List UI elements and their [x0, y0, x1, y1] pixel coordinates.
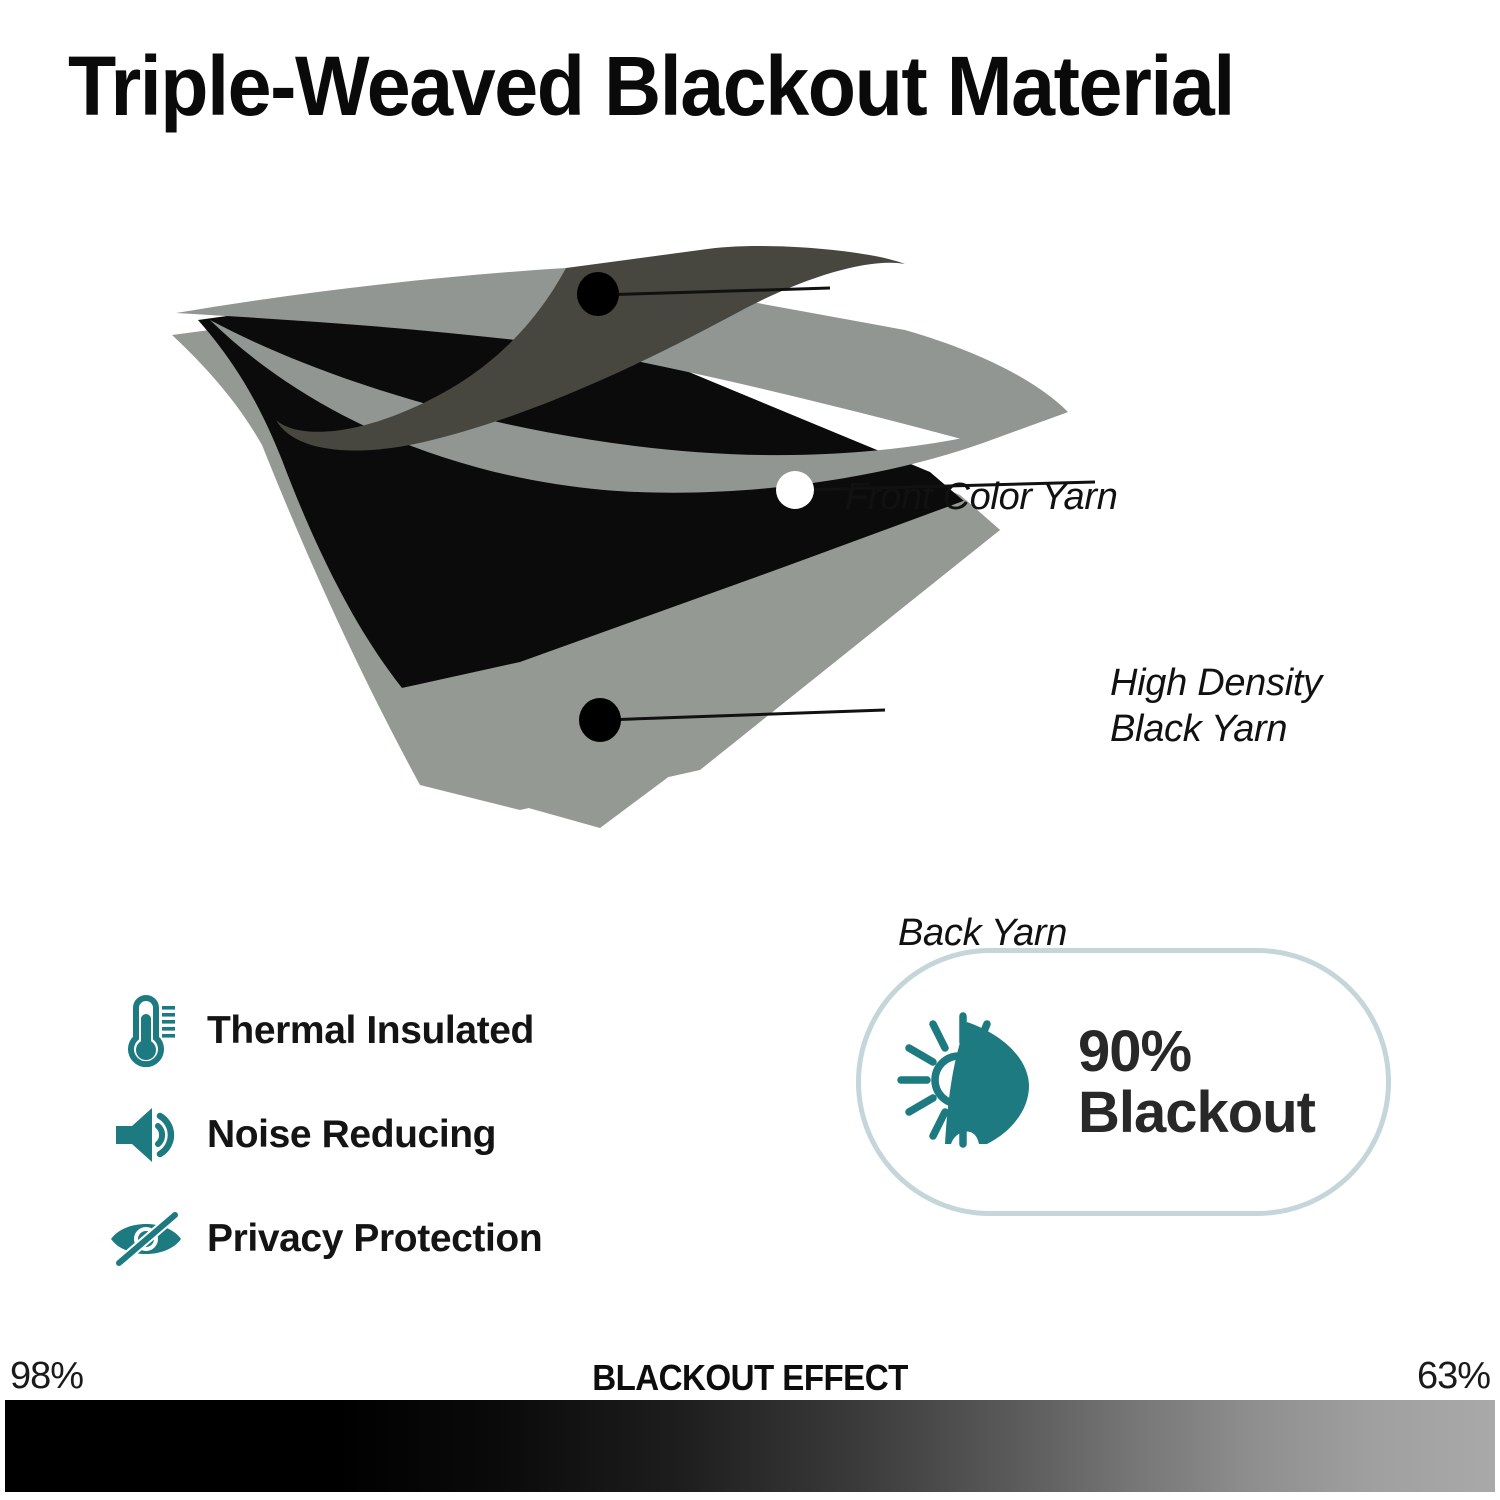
callout-dot-front	[577, 272, 619, 316]
callout-dot-high	[776, 471, 814, 509]
feature-list: Thermal Insulated Noise Reducing	[105, 985, 745, 1297]
callout-label-front-color-yarn: Front Color Yarn	[845, 474, 1118, 520]
feature-item-noise: Noise Reducing	[105, 1089, 745, 1181]
feature-label: Thermal Insulated	[207, 1009, 534, 1053]
sun-blocked-icon	[869, 1002, 1074, 1162]
fabric-layer-diagram: Front Color Yarn High Density Black Yarn…	[0, 210, 1500, 850]
blackout-gradient-bar	[5, 1400, 1495, 1492]
callout-dot-back	[579, 698, 621, 742]
blackout-effect-header: 98% BLACKOUT EFFECT 63%	[0, 1355, 1500, 1403]
page-title: Triple-Weaved Blackout Material	[68, 44, 1384, 128]
thermometer-icon	[105, 989, 189, 1073]
speaker-icon	[105, 1093, 189, 1177]
feature-item-privacy: Privacy Protection	[105, 1193, 745, 1285]
blackout-badge: 90% Blackout	[856, 948, 1391, 1216]
feature-label: Noise Reducing	[207, 1113, 496, 1157]
effect-title: BLACKOUT EFFECT	[60, 1357, 1440, 1399]
badge-text-block: 90% Blackout	[1078, 1021, 1315, 1144]
effect-right-value: 63%	[1417, 1355, 1490, 1398]
badge-percent: 90%	[1078, 1021, 1315, 1082]
feature-label: Privacy Protection	[207, 1217, 542, 1261]
badge-word: Blackout	[1078, 1082, 1315, 1143]
eye-slash-icon	[105, 1197, 189, 1281]
feature-item-thermal: Thermal Insulated	[105, 985, 745, 1077]
product-infographic: Triple-Weaved Blackout Material	[0, 0, 1500, 1500]
callout-label-high-density-black-yarn: High Density Black Yarn	[1110, 660, 1322, 753]
